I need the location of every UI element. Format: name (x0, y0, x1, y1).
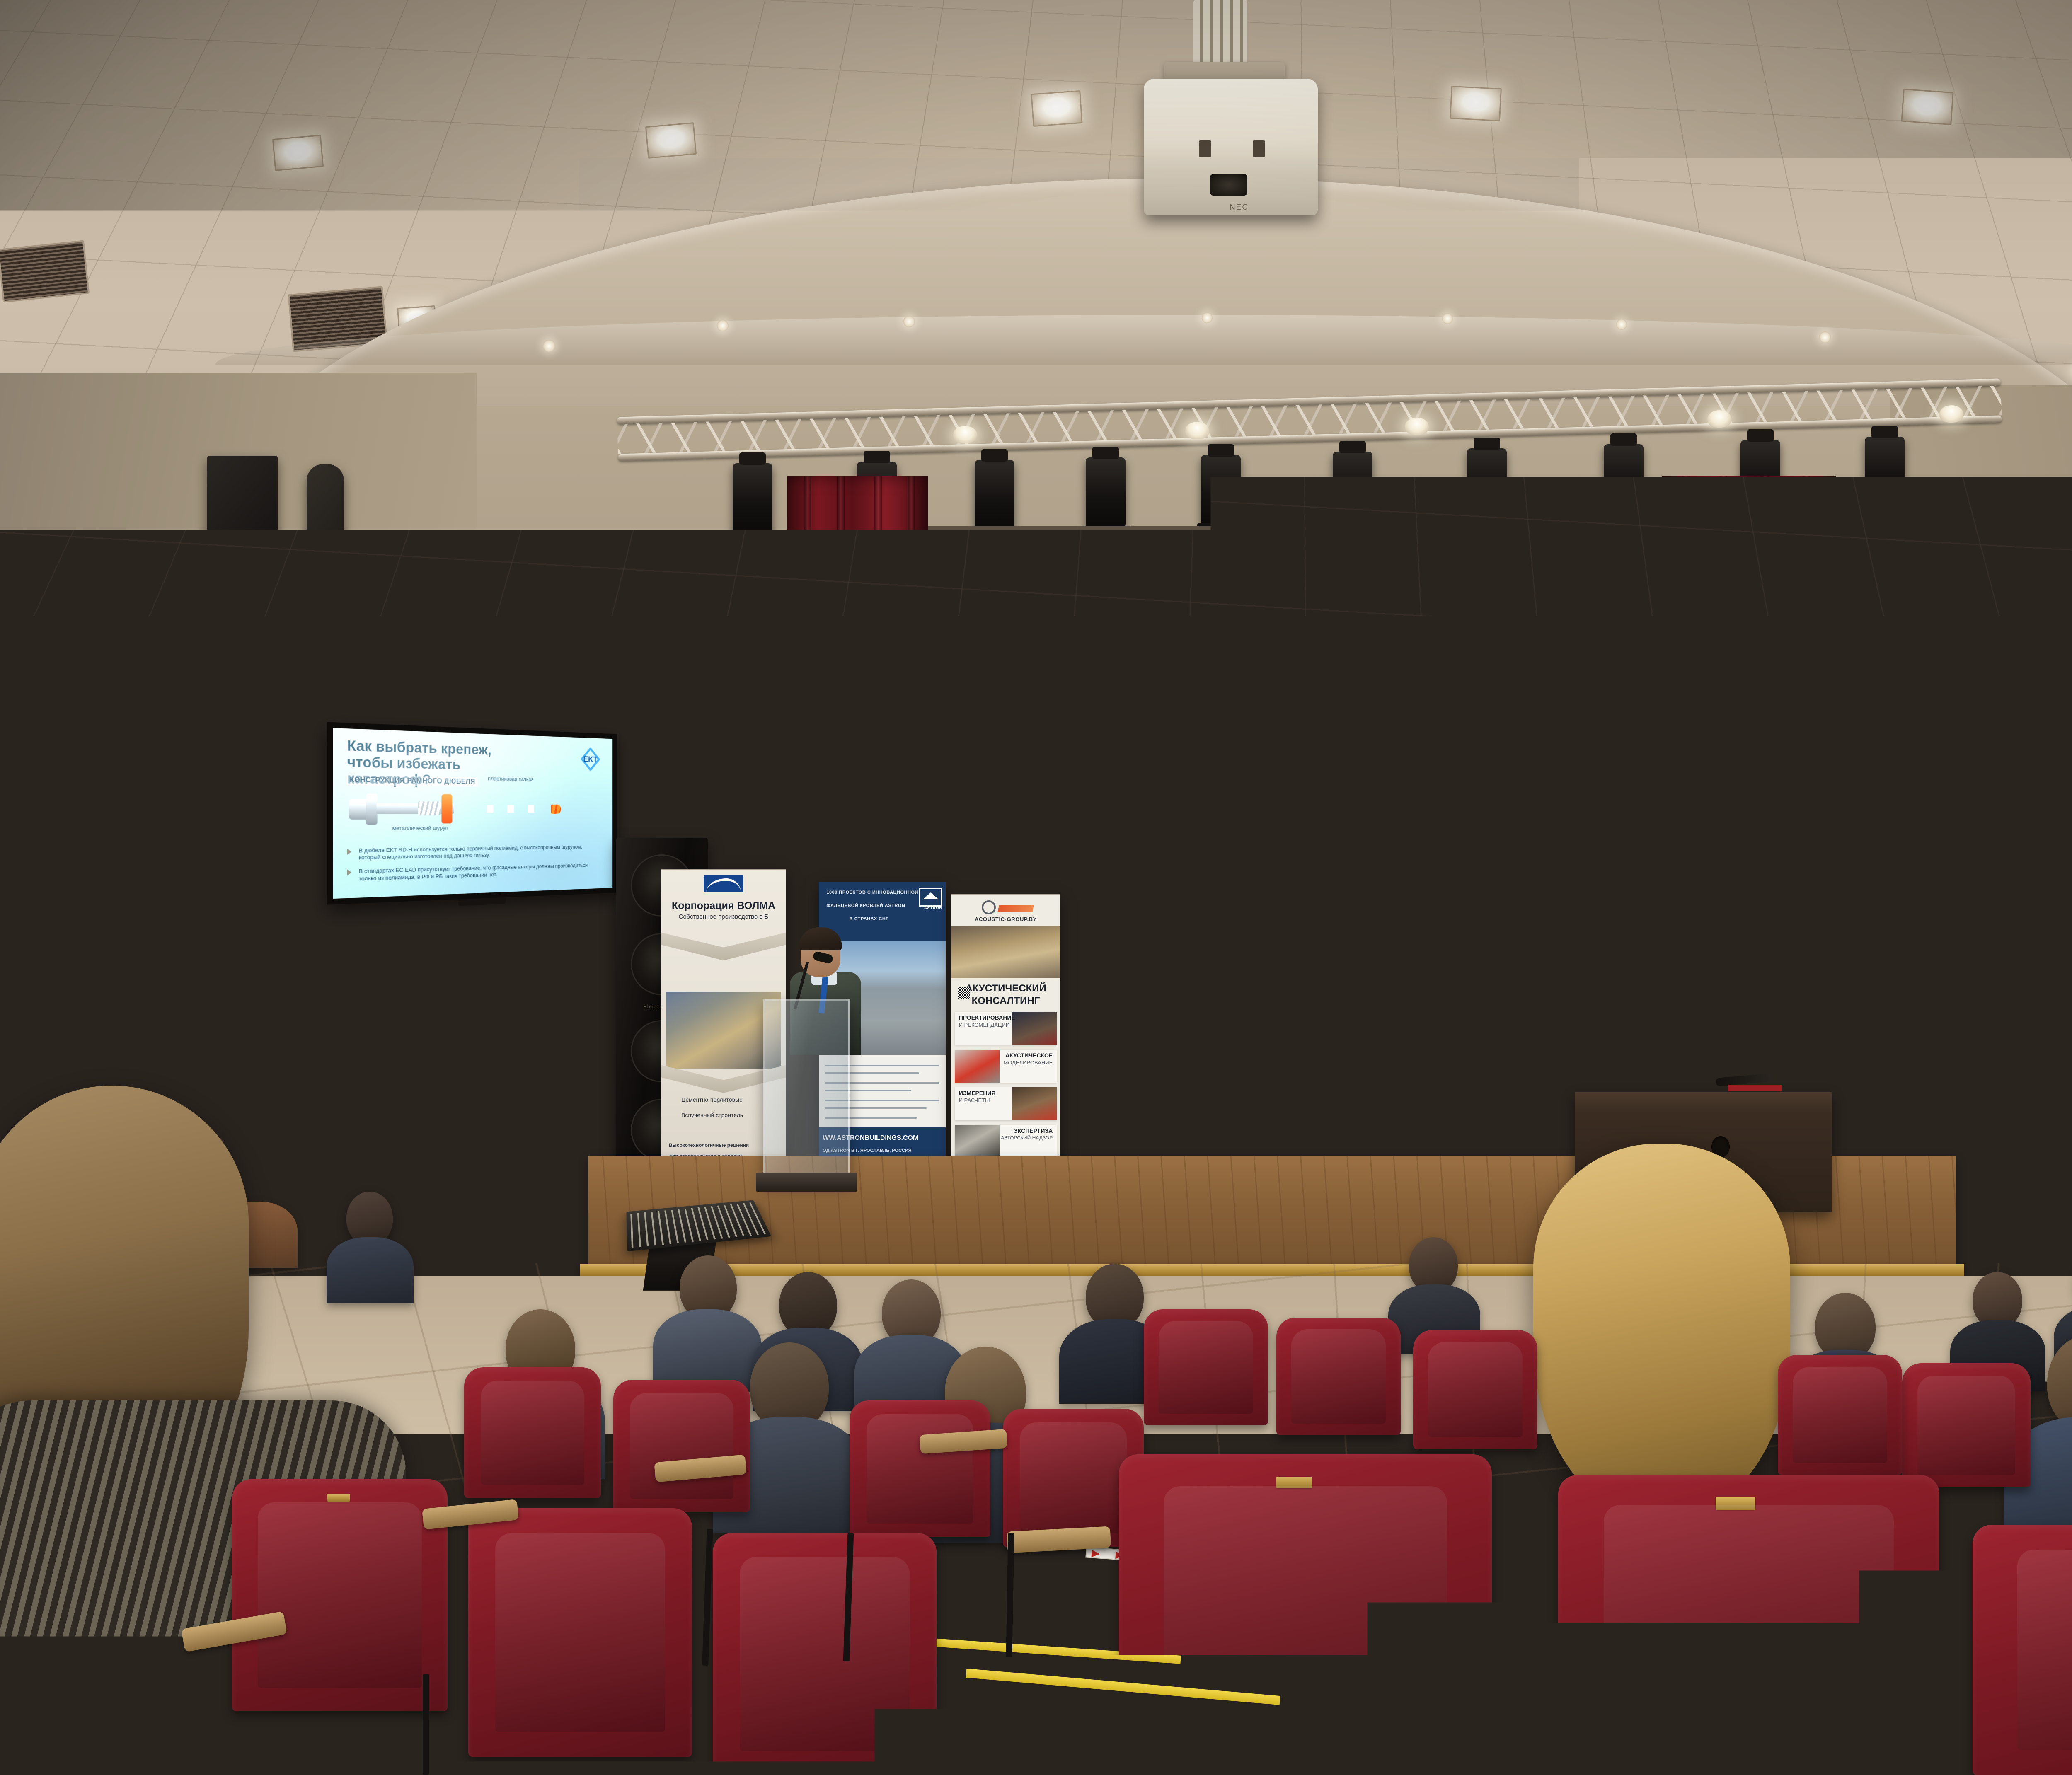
astron-headline-line3: В СТРАНАХ СНГ (849, 917, 888, 921)
stage-light (1604, 444, 1644, 517)
bullet-triangle-icon (347, 869, 351, 875)
foreground-audience-member (1533, 1144, 1790, 1516)
seat-number-plate (327, 1494, 350, 1502)
acoustic-section-line2: МОДЕЛИРОВАНИЕ (1003, 1059, 1053, 1066)
slide-title-line1: Как выбрать крепеж, (1102, 594, 1480, 625)
stage-light (1201, 455, 1241, 527)
pa-driver (1929, 953, 1992, 1016)
volma-bullet: Вспученный строитель (681, 1112, 743, 1118)
astron-headline-line2: ФАЛЬЦЕВОЙ КРОВЛЕЙ ASTRON (826, 903, 905, 908)
ekt-crane-car-photo (1768, 912, 1881, 1019)
volma-logo-icon (704, 875, 743, 892)
projector-vent (1199, 140, 1211, 157)
sleeve-slot (508, 805, 514, 813)
arch-downlight (903, 316, 915, 327)
slide-bullet-list: В дюбеле EKT RD-H используется только пе… (347, 843, 598, 889)
slide-bullet-item: В дюбеле EKT RD-H используется только пе… (347, 843, 598, 862)
acoustic-section-line1: ПРОЕКТИРОВАНИЕ (959, 1014, 1015, 1021)
projector-lens (1210, 174, 1247, 196)
callout-screw-label: металлический шуруп (1185, 786, 1295, 799)
acoustic-section-line2: И РАСЧЕТЫ (959, 1097, 990, 1103)
truss-lamp (1405, 418, 1429, 435)
banner-top-rail (661, 869, 786, 870)
sleeve-tip (551, 805, 561, 814)
auditorium-seat[interactable] (464, 1367, 601, 1498)
exit-sign-line1: ВЫХОД (129, 923, 163, 931)
ceiling-light (1901, 89, 1953, 125)
auditorium-seat[interactable] (713, 1533, 937, 1775)
arch-downlight (1202, 312, 1213, 323)
slide-bullet-text: В дюбеле EKT RD-H используется только пе… (1117, 835, 1651, 863)
ceiling-light (645, 122, 697, 159)
sleeve-tip (1536, 739, 1559, 762)
stage-light (1467, 448, 1507, 521)
section-text-lines (959, 1107, 1008, 1117)
acoustic-logo-text: ACOUSTIC·GROUP.BY (951, 916, 1060, 922)
ceiling-light (1450, 86, 1502, 121)
stage-light (1333, 452, 1372, 524)
arch-downlight (1442, 313, 1453, 324)
stage-light (1865, 437, 1905, 509)
conference-hall-photo: NEC ВЫХОД EXIT (0, 0, 2072, 1775)
pa-brand-label: Electro-Voice (1942, 1027, 1979, 1033)
audience-shoulders (439, 1183, 520, 1245)
slide-subheading: КОНСТРУКЦИЯ РАМНОГО ДЮБЕЛЯ (1102, 676, 1352, 695)
speaker-driver-icon (177, 923, 193, 941)
section-text-lines (1004, 1069, 1053, 1079)
auditorium-seat[interactable] (1973, 1525, 2072, 1775)
screw-head (1106, 728, 1124, 774)
seat-number-plate (1276, 1477, 1312, 1488)
projector-vent (1253, 140, 1265, 157)
acoustic-qr-icon (958, 987, 970, 999)
ekt-new-badge: NEW (1825, 1015, 1880, 1030)
fasady-headline: СОВРЕМЕННЫЕ СТРОИТЕЛЬНЫЕ РЕШЕНИЯ (1608, 912, 1720, 924)
fasady-header: СОВРЕМЕННЫЕ СТРОИТЕЛЬНЫЕ РЕШЕНИЯ НЕГОРЮЧ… (1604, 906, 1720, 972)
presenter-hair (799, 927, 842, 950)
audience-shoulders (327, 1237, 414, 1303)
ekt-logo: EKT (581, 747, 600, 771)
projector-brand-label: NEC (1214, 203, 1264, 212)
audience-head (346, 1192, 393, 1245)
wall-speaker (171, 908, 200, 948)
acoustic-section: ЭКСПЕРТИЗА АВТОРСКИЙ НАДЗОР (955, 1125, 1057, 1158)
auditorium-seat[interactable] (613, 1380, 750, 1512)
acoustic-section-line1: ИЗМЕРЕНИЯ (959, 1090, 996, 1096)
acoustic-section: АКУСТИЧЕСКОЕ МОДЕЛИРОВАНИЕ (955, 1050, 1057, 1083)
auditorium-seat[interactable] (232, 1479, 448, 1711)
slide-bullet-list: В дюбеле EKT RD-H используется только пе… (1102, 835, 1651, 917)
slide-mirror-left: Как выбрать крепеж, чтобы избежать катас… (333, 728, 612, 899)
stage-light (1086, 457, 1126, 530)
section-text-lines (1004, 1145, 1053, 1155)
fasady-sub-line2: КОМПОЗИТНЫЕ КАССЕТЫ (1634, 936, 1695, 941)
acoustic-section: ПРОЕКТИРОВАНИЕ И РЕКОМЕНДАЦИИ (955, 1012, 1057, 1045)
banner-acoustic-group: ACOUSTIC·GROUP.BY АКУСТИЧЕСКИЙ КОНСАЛТИН… (951, 894, 1060, 1184)
section-text-lines (959, 1032, 1008, 1042)
bottle-cap (1671, 1042, 1682, 1051)
acoustic-section-line1: ЭКСПЕРТИЗА (1014, 1127, 1053, 1134)
exit-sign-line2: EXIT (136, 931, 156, 939)
callout-sleeve-label: пластиковая гильза (1383, 672, 1481, 685)
callout-screw-arrow (1173, 749, 1174, 771)
screw-flange (366, 793, 378, 825)
section-photo (1012, 1087, 1057, 1121)
callout-sleeve-arrow (1353, 686, 1354, 708)
plastic-sleeve (1303, 729, 1559, 770)
ceiling-light (1031, 90, 1082, 127)
bullet-triangle-icon (1102, 838, 1110, 849)
section-photo (1012, 1012, 1057, 1045)
slide-bullet-text: В дюбеле EKT RD-H используется только пе… (359, 843, 599, 861)
auditorium-seat[interactable] (1144, 1309, 1268, 1425)
acoustic-section: ИЗМЕРЕНИЯ И РАСЧЕТЫ (955, 1087, 1057, 1121)
screw-thread (418, 801, 440, 816)
arch-downlight (543, 340, 555, 352)
ceiling-light (272, 135, 324, 171)
auditorium-seat[interactable] (1119, 1454, 1492, 1775)
acoustic-section-line2: И РЕКОМЕНДАЦИИ (959, 1022, 1010, 1028)
auditorium-seat[interactable] (1276, 1318, 1401, 1435)
fasady-sub-line1: НЕГОРЮЧИЕ АЛЮМИНИЕВЫЕ (1634, 927, 1704, 932)
auditorium-seat[interactable] (1558, 1475, 1939, 1775)
acoustic-section-line1: АКУСТИЧЕСКОЕ (1005, 1052, 1053, 1059)
arch-downlight (1819, 331, 1831, 343)
banner-top-rail (951, 894, 1060, 895)
astron-logo-text: ASTRON (924, 906, 942, 910)
sleeve-slot (1482, 741, 1496, 759)
plastic-sleeve (446, 800, 561, 818)
volma-bullet: Цементно-перлитовые (681, 1096, 743, 1103)
pa-driver (1929, 1044, 1992, 1107)
bullet-triangle-icon (347, 849, 351, 855)
ekt-new-text: NEW (1825, 1016, 1880, 1024)
svg-text:EKT: EKT (583, 755, 597, 764)
fasady-company: ООО "ФасадыТехноГрупп" (1607, 959, 1658, 964)
sleeve-collar (1293, 716, 1303, 784)
callout-sleeve-label: пластиковая гильза (488, 775, 533, 782)
bullet-triangle-icon (1102, 879, 1110, 890)
auditorium-seat[interactable] (468, 1508, 692, 1757)
slide-bullet-text: В стандартах ЕС EAD присутствует требова… (1117, 876, 1651, 904)
astron-logo-icon (919, 888, 942, 907)
projection-screen: Как выбрать крепеж, чтобы избежать катас… (1069, 568, 1691, 953)
slide-bullet-item: В стандартах ЕС EAD присутствует требова… (1102, 876, 1651, 904)
panelist-hair (1719, 1004, 1764, 1024)
section-photo (955, 1050, 1000, 1083)
wall-speaker-box (207, 456, 278, 580)
arch-downlight (717, 320, 729, 331)
hvac-vent (0, 240, 90, 302)
banner-chevron (661, 931, 786, 960)
audience-head (457, 1139, 501, 1189)
volma-title: Корпорация ВОЛМА (661, 900, 786, 912)
presenter-podium (763, 999, 850, 1182)
auditorium-seat[interactable] (850, 1400, 990, 1537)
screw-flange (1121, 716, 1132, 786)
sleeve-slot (1375, 741, 1389, 759)
astron-headline-line1: 1000 ПРОЕКТОВ С ИННОВАЦИОННОЙ (826, 890, 918, 895)
frame-dowel-illustration (1106, 708, 1618, 790)
ekt-title-line2: ДЮБЕЛЬ (1832, 1052, 1879, 1064)
auditorium-seat[interactable] (1902, 1363, 2031, 1487)
slide-bullet-text: В стандартах ЕС EAD присутствует требова… (359, 862, 599, 883)
truss-lamp (953, 426, 977, 443)
side-monitor-left: Как выбрать крепеж, чтобы избежать катас… (327, 722, 617, 904)
seat-leg (423, 1674, 429, 1775)
exit-sign: ВЫХОД EXIT (122, 919, 171, 943)
arch-downlight (1616, 319, 1627, 330)
callout-sleeve-line (1353, 686, 1382, 687)
svg-text:EKT: EKT (1614, 614, 1647, 632)
ekt-title-line1: РАМНЫЙ (1832, 1035, 1879, 1047)
red-folder (1728, 1085, 1782, 1091)
podium-base (756, 1173, 857, 1192)
arrow-icon (1091, 1550, 1100, 1557)
volma-subtitle: Собственное производство в Б (661, 913, 786, 920)
auditorium-seat[interactable] (1413, 1330, 1537, 1449)
ekt-logo: EKT (1607, 598, 1653, 647)
sleeve-slot (487, 805, 493, 813)
callout-screw-label: металлический шуруп (392, 825, 448, 831)
acoustic-logo-icon (982, 900, 996, 914)
acoustic-hall-photo (951, 926, 1060, 978)
frame-dowel-illustration (349, 790, 585, 827)
acoustic-section-line2: АВТОРСКИЙ НАДЗОР (1001, 1135, 1053, 1141)
seat-number-plate (1716, 1497, 1755, 1510)
auditorium-seat[interactable] (1778, 1355, 1902, 1475)
acoustic-logo-bar (997, 905, 1034, 912)
fasady-sub-line3: GOLDSTAR A2 (1646, 944, 1678, 949)
truss-lamp (1707, 410, 1731, 428)
ekt-tagline-line1: Способен выдержать (1829, 1088, 1879, 1094)
stage-light (733, 463, 772, 536)
slide-subheading: КОНСТРУКЦИЯ РАМНОГО ДЮБЕЛЯ (347, 775, 477, 787)
slide-bullet-item: В дюбеле EKT RD-H используется только пе… (1102, 835, 1651, 863)
truss-lamp (1185, 422, 1209, 439)
callout-screw-line (1173, 781, 1197, 782)
sleeve-slot (1410, 741, 1424, 759)
wall-speaker-box (307, 464, 344, 584)
sleeve-slot (1446, 741, 1460, 759)
screw-thread (1244, 733, 1290, 765)
truss-lamp (1939, 405, 1963, 423)
section-photo (955, 1125, 1000, 1158)
pa-driver (1929, 872, 1992, 935)
volma-footer-line1: Высокотехнологичные решения (669, 1142, 749, 1148)
stage-light (975, 460, 1014, 532)
ekt-model: RD-H/RD-X (1827, 1071, 1878, 1083)
water-bottle (1669, 1049, 1684, 1092)
slide-main: Как выбрать крепеж, чтобы избежать катас… (1075, 573, 1685, 947)
sleeve-slot (528, 805, 534, 813)
slide-bullet-item: В стандартах ЕС EAD присутствует требова… (347, 862, 598, 883)
